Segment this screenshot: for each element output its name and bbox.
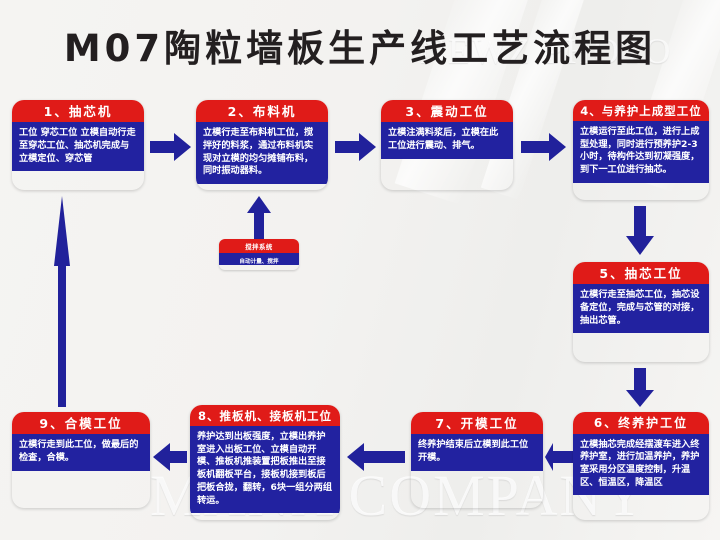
process-node-1[interactable]: 1、抽芯机 工位 穿芯工位 立模自动行走至穿芯工位、抽芯机完成与立模定位、穿芯管 <box>12 100 144 190</box>
node-9-body: 立模行走到此工位，做最后的检查，合模。 <box>12 434 150 470</box>
node-1-header: 1、抽芯机 <box>12 100 144 122</box>
node-6-header: 6、终养护工位 <box>573 412 709 434</box>
mixer-header: 搅拌系统 <box>219 239 299 253</box>
node-4-header: 4、与养护上成型工位 <box>573 100 709 121</box>
arrow-left-node7-node8 <box>346 442 406 472</box>
node-3-body: 立模注满料浆后，立模在此工位进行震动、排气。 <box>381 122 513 158</box>
mixer-node[interactable]: 搅拌系统 自动计量、搅拌 <box>219 239 299 270</box>
process-node-7[interactable]: 7、开模工位 终养护结束后立模到此工位开模。 <box>411 412 543 508</box>
flowchart-canvas: NEWZ PHOTO MANA COMPANY M07陶粒墙板生产线工艺流程图 … <box>0 0 720 540</box>
arrow-down-node4-node5 <box>625 206 655 256</box>
arrow-right-node2-node3 <box>335 132 377 162</box>
node-5-header: 5、抽芯工位 <box>573 262 709 284</box>
node-2-body: 立模行走至布料机工位，搅拌好的料浆，通过布料机实现对立模的均匀摊铺布料，同时振动… <box>196 122 328 184</box>
process-node-3[interactable]: 3、震动工位 立模注满料浆后，立模在此工位进行震动、排气。 <box>381 100 513 190</box>
arrow-right-node1-node2 <box>150 132 192 162</box>
process-node-4[interactable]: 4、与养护上成型工位 立模运行至此工位，进行上成型处理，同时进行预养护2-3小时… <box>573 100 709 200</box>
node-5-body: 立模行走至抽芯工位，抽芯设备定位，完成与芯管的对接，抽出芯管。 <box>573 284 709 333</box>
node-8-header: 8、推板机、接板机工位 <box>190 405 340 426</box>
process-node-5[interactable]: 5、抽芯工位 立模行走至抽芯工位，抽芯设备定位，完成与芯管的对接，抽出芯管。 <box>573 262 709 362</box>
node-3-header: 3、震动工位 <box>381 100 513 122</box>
process-node-2[interactable]: 2、布料机 立模行走至布料机工位，搅拌好的料浆，通过布料机实现对立模的均匀摊铺布… <box>196 100 328 190</box>
arrow-left-node8-node9 <box>152 442 188 472</box>
node-2-header: 2、布料机 <box>196 100 328 122</box>
process-node-6[interactable]: 6、终养护工位 立模抽芯完成经摆渡车进入终养护室，进行加温养护，养护室采用分区温… <box>573 412 709 520</box>
node-9-header: 9、合模工位 <box>12 412 150 434</box>
node-6-body: 立模抽芯完成经摆渡车进入终养护室，进行加温养护，养护室采用分区温度控制，升温区、… <box>573 434 709 496</box>
mixer-body: 自动计量、搅拌 <box>219 253 299 265</box>
arrow-right-node3-node4 <box>521 132 567 162</box>
process-node-8[interactable]: 8、推板机、接板机工位 养护达到出板强度，立模出养护室进入出板工位、立模自动开模… <box>190 405 340 520</box>
node-4-body: 立模运行至此工位，进行上成型处理，同时进行预养护2-3小时，待构件达到初凝强度，… <box>573 121 709 183</box>
arrow-up-mixer-node2 <box>246 196 272 240</box>
node-7-body: 终养护结束后立模到此工位开模。 <box>411 434 543 470</box>
page-title: M07陶粒墙板生产线工艺流程图 <box>0 18 720 72</box>
process-node-9[interactable]: 9、合模工位 立模行走到此工位，做最后的检查，合模。 <box>12 412 150 508</box>
arrow-left-node6-node7 <box>544 442 574 472</box>
arrow-down-node5-node6 <box>625 368 655 408</box>
arrow-up-node9-node1 <box>52 196 78 408</box>
node-7-header: 7、开模工位 <box>411 412 543 434</box>
node-8-body: 养护达到出板强度，立模出养护室进入出板工位、立模自动开模、推板机推装置把板推出至… <box>190 426 340 513</box>
node-1-body: 工位 穿芯工位 立模自动行走至穿芯工位、抽芯机完成与立模定位、穿芯管 <box>12 122 144 171</box>
